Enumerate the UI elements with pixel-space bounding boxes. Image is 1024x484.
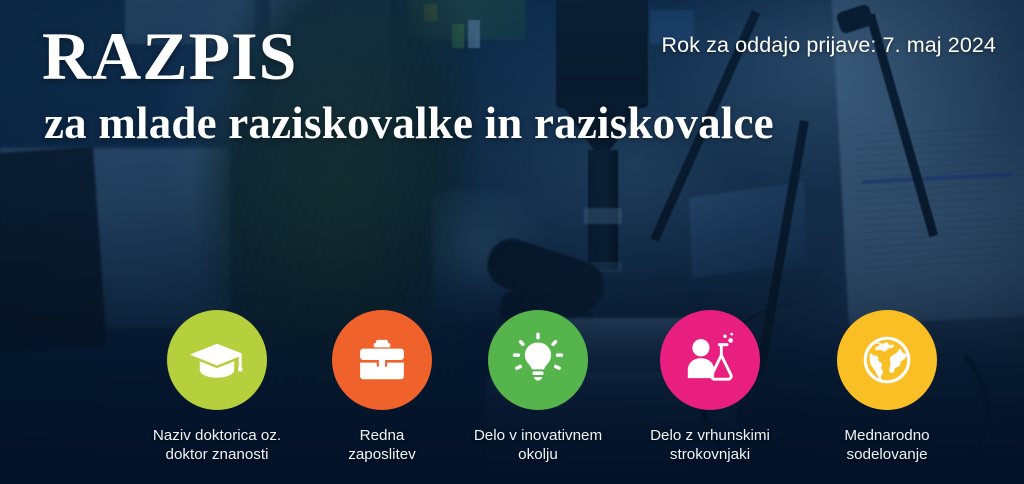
- feature-icon-circle: [660, 310, 760, 410]
- feature-caption-line-2: strokovnjaki: [620, 445, 800, 464]
- feature-caption-line-2: sodelovanje: [797, 445, 977, 464]
- feature-icon-circle: [332, 310, 432, 410]
- banner-content: Rok za oddajo prijave: 7. maj 2024 RAZPI…: [0, 0, 1024, 484]
- page-subtitle: za mlade raziskovalke in raziskovalce: [44, 101, 774, 146]
- feature-item: Rednazaposlitev: [292, 310, 472, 465]
- feature-item: Delo z vrhunskimistrokovnjaki: [620, 310, 800, 465]
- feature-caption-line-1: Redna: [292, 426, 472, 445]
- feature-caption-line-2: doktor znanosti: [127, 445, 307, 464]
- feature-caption-line-2: zaposlitev: [292, 445, 472, 464]
- feature-caption-line-1: Mednarodno: [797, 426, 977, 445]
- feature-caption: Naziv doktorica oz.doktor znanosti: [127, 426, 307, 465]
- feature-caption: Delo z vrhunskimistrokovnjaki: [620, 426, 800, 465]
- page-title: RAZPIS: [42, 22, 297, 90]
- feature-caption: Delo v inovativnemokolju: [448, 426, 628, 465]
- graduation-cap-icon: [188, 331, 246, 389]
- feature-item: Delo v inovativnemokolju: [448, 310, 628, 465]
- feature-icon-circle: [837, 310, 937, 410]
- lightbulb-icon: [510, 332, 566, 388]
- scientist-flask-icon: [681, 331, 739, 389]
- razpis-banner: Rok za oddajo prijave: 7. maj 2024 RAZPI…: [0, 0, 1024, 484]
- globe-icon: [858, 331, 916, 389]
- feature-item: Naziv doktorica oz.doktor znanosti: [127, 310, 307, 465]
- feature-icon-circle: [488, 310, 588, 410]
- feature-item: Mednarodnosodelovanje: [797, 310, 977, 465]
- deadline-text: Rok za oddajo prijave: 7. maj 2024: [662, 33, 996, 58]
- feature-caption: Mednarodnosodelovanje: [797, 426, 977, 465]
- feature-caption-line-2: okolju: [448, 445, 628, 464]
- feature-caption-line-1: Delo v inovativnem: [448, 426, 628, 445]
- feature-icon-circle: [167, 310, 267, 410]
- feature-caption-line-1: Naziv doktorica oz.: [127, 426, 307, 445]
- feature-caption: Rednazaposlitev: [292, 426, 472, 465]
- feature-caption-line-1: Delo z vrhunskimi: [620, 426, 800, 445]
- briefcase-icon: [354, 332, 410, 388]
